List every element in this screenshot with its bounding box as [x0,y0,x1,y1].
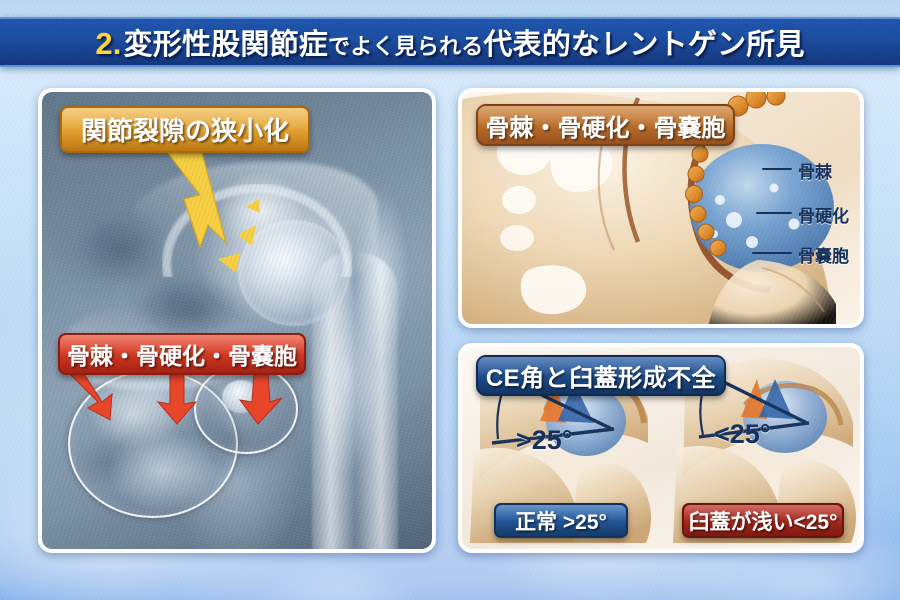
xray-ilium-shadow [128,162,378,282]
lightning-pointer-icon [160,147,270,277]
xray-acetabulum-arc [162,184,352,344]
annotation-bone-cyst: 骨嚢胞 [798,242,849,267]
title-main-2: 代表的な [483,21,600,63]
hip-xray-image [42,92,432,549]
page-title: 2. 変形性股関節症 でよく見られる 代表的な レントゲン所見 [95,21,804,63]
title-number: 2. [95,26,123,62]
title-suffix-2: レントゲン所見 [600,21,804,63]
label-osteophyte-sclerosis-cyst-xray: 骨棘・骨硬化・骨嚢胞 [58,333,306,375]
header-bar: 2. 変形性股関節症 でよく見られる 代表的な レントゲン所見 [0,17,900,67]
caption-shallow-acetabulum: 臼蓋が浅い<25° [682,503,844,538]
angle-label-normal: >25° [516,425,573,456]
annotation-sclerosis: 骨硬化 [798,202,849,227]
xray-femoral-shaft [312,252,398,549]
xray-obturator-foramen-1 [76,212,170,286]
label-osteophyte-sclerosis-cyst-anatomy: 骨棘・骨硬化・骨嚢胞 [476,104,735,146]
label-joint-space-narrowing: 関節裂隙の狭小化 [60,106,310,153]
angle-label-shallow: <25° [714,419,771,450]
label-ce-angle-title: CE角と臼蓋形成不全 [476,355,726,396]
caption-normal-ce-angle: 正常 >25° [494,503,628,538]
hip-xray-panel [38,88,436,553]
title-suffix-1: でよく見られる [328,29,483,61]
red-arrows-group-icon [58,372,308,432]
xray-femoral-head [238,220,350,326]
hip-xray-panel-inner [42,92,432,549]
annotation-osteophyte: 骨棘 [798,158,832,183]
slide-root: 2. 変形性股関節症 でよく見られる 代表的な レントゲン所見 [0,0,900,600]
title-main-1: 変形性股関節症 [124,21,328,63]
